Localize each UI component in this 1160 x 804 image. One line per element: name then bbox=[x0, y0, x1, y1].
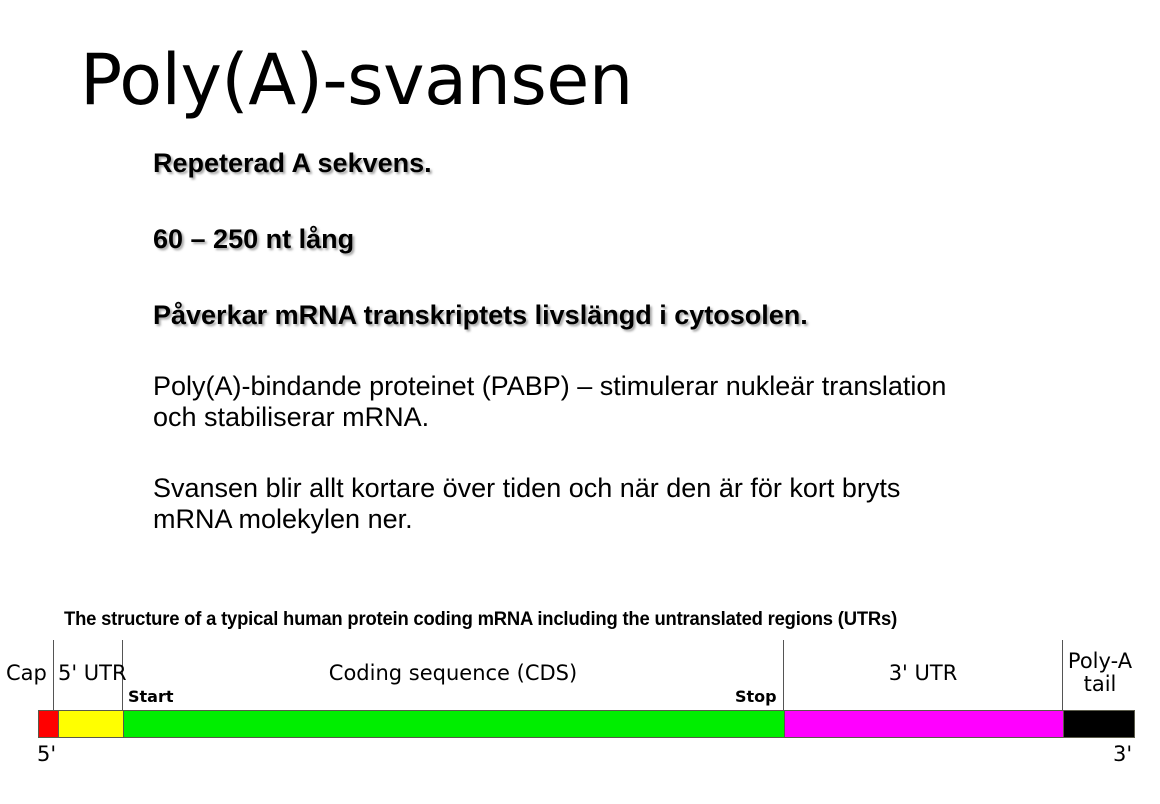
body-line-5: och stabiliserar mRNA. bbox=[153, 402, 1053, 433]
bar-segment-cap bbox=[39, 711, 58, 737]
label-5-utr: 5' UTR bbox=[58, 662, 127, 685]
label-polya-tail-line2: tail bbox=[1064, 673, 1136, 696]
label-start-codon: Start bbox=[128, 687, 174, 706]
label-polya-tail-line1: Poly-A bbox=[1064, 650, 1136, 673]
bar-segment-cds bbox=[123, 711, 784, 737]
body-line-1: Repeterad A sekvens. bbox=[153, 148, 1053, 179]
slide-canvas: Poly(A)-svansen Repeterad A sekvens. 60 … bbox=[0, 0, 1160, 804]
bar-segment-polya-tail bbox=[1063, 711, 1134, 737]
diagram-caption: The structure of a typical human protein… bbox=[64, 609, 897, 631]
spacer bbox=[153, 331, 1053, 371]
tick-polya-boundary bbox=[1062, 640, 1063, 710]
tick-cap-boundary bbox=[53, 640, 54, 710]
label-3-prime-end: 3' bbox=[1113, 742, 1132, 766]
body-line-4: Poly(A)-bindande proteinet (PABP) – stim… bbox=[153, 371, 1053, 402]
label-cap: Cap bbox=[6, 662, 47, 685]
label-coding-sequence: Coding sequence (CDS) bbox=[123, 662, 783, 685]
mrna-structure-diagram: The structure of a typical human protein… bbox=[0, 600, 1160, 804]
spacer bbox=[153, 255, 1053, 300]
body-line-7: mRNA molekylen ner. bbox=[153, 504, 1053, 535]
label-stop-codon: Stop bbox=[735, 687, 777, 706]
label-5-prime-end: 5' bbox=[37, 742, 56, 766]
page-title: Poly(A)-svansen bbox=[80, 44, 633, 118]
bar-segment-3-utr bbox=[784, 711, 1063, 737]
label-3-utr: 3' UTR bbox=[784, 662, 1062, 685]
body-text-block: Repeterad A sekvens. 60 – 250 nt lång På… bbox=[153, 148, 1053, 535]
body-line-3: Påverkar mRNA transkriptets livslängd i … bbox=[153, 300, 1053, 331]
body-line-6: Svansen blir allt kortare över tiden och… bbox=[153, 473, 1053, 504]
spacer bbox=[153, 433, 1053, 473]
body-line-2: 60 – 250 nt lång bbox=[153, 224, 1053, 255]
mrna-bar bbox=[38, 710, 1135, 738]
spacer bbox=[153, 179, 1053, 224]
bar-segment-5-utr bbox=[58, 711, 123, 737]
